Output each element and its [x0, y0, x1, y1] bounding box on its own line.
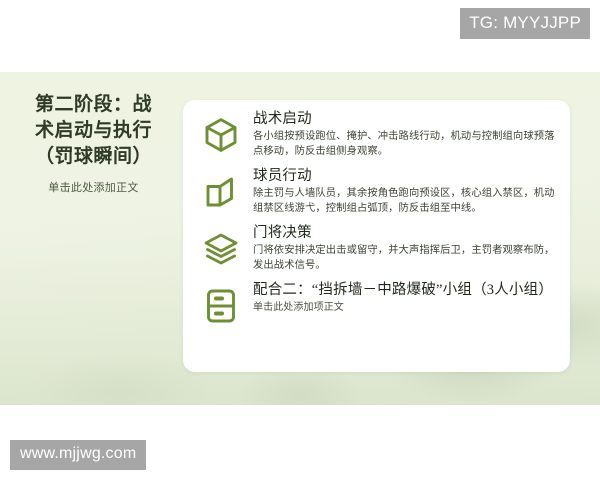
- list-item-body: 单击此处添加项正文: [253, 301, 556, 316]
- watermark-top: TG: MYYJJPP: [460, 8, 590, 39]
- box-3d-icon: [201, 171, 241, 213]
- list-item-heading: 球员行动: [253, 167, 556, 185]
- list-item-body: 除主罚与人墙队员，其余按角色跑向预设区，核心组入禁区，机动组禁区线游弋，控制组占…: [253, 187, 556, 217]
- list-item[interactable]: 门将决策 门将依安排决定出击或留守，并大声指挥后卫，主罚者观察布防，发出战术信号…: [201, 224, 556, 274]
- list-item-body: 各小组按预设跑位、掩护、冲击路线行动，机动与控制组向球预落点移动，防反击组侧身观…: [253, 130, 556, 160]
- drawers-icon: [201, 285, 241, 327]
- page-subtitle: 单击此处添加正文: [26, 181, 161, 196]
- list-item-body: 门将依安排决定出击或留守，并大声指挥后卫，主罚者观察布防，发出战术信号。: [253, 244, 556, 274]
- list-item[interactable]: 战术启动 各小组按预设跑位、掩护、冲击路线行动，机动与控制组向球预落点移动，防反…: [201, 110, 556, 160]
- list-item-heading: 战术启动: [253, 110, 556, 128]
- slide-canvas: 第二阶段：战术启动与执行（罚球瞬间） 单击此处添加正文 战术启动 各小组按预设跑…: [0, 72, 600, 405]
- page-title: 第二阶段：战术启动与执行（罚球瞬间）: [26, 92, 161, 171]
- title-block: 第二阶段：战术启动与执行（罚球瞬间） 单击此处添加正文: [26, 92, 161, 196]
- content-card: 战术启动 各小组按预设跑位、掩护、冲击路线行动，机动与控制组向球预落点移动，防反…: [183, 100, 570, 372]
- list-item[interactable]: 球员行动 除主罚与人墙队员，其余按角色跑向预设区，核心组入禁区，机动组禁区线游弋…: [201, 167, 556, 217]
- list-item-heading: 配合二：“挡拆墙－中路爆破”小组（3人小组）: [253, 281, 556, 299]
- cube-icon: [201, 114, 241, 156]
- list-item[interactable]: 配合二：“挡拆墙－中路爆破”小组（3人小组） 单击此处添加项正文: [201, 281, 556, 327]
- list-item-heading: 门将决策: [253, 224, 556, 242]
- layers-icon: [201, 228, 241, 270]
- watermark-bottom: www.mjjwg.com: [10, 440, 146, 470]
